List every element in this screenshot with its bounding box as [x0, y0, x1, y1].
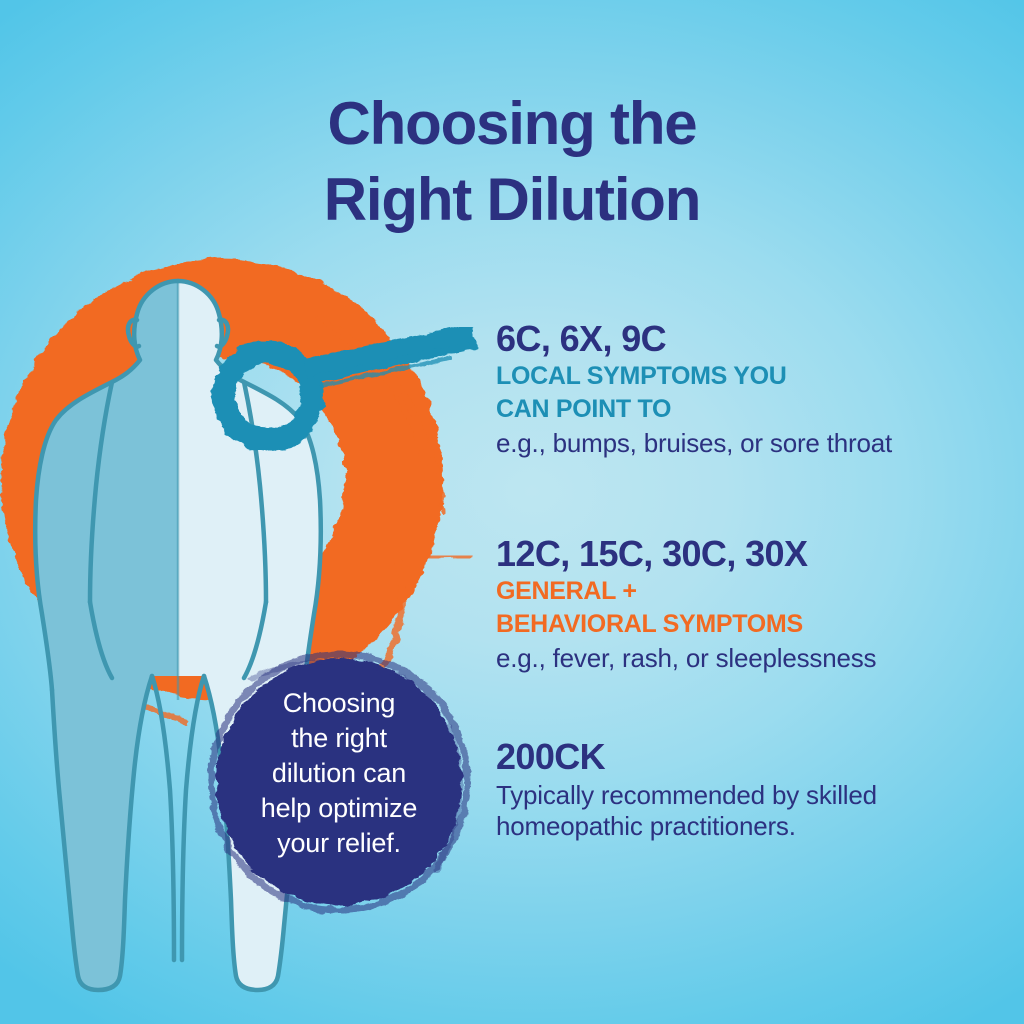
badge-message: Choosing the right dilution can help opt…: [228, 686, 450, 861]
dilution-code-1: 6C, 6X, 9C: [496, 318, 996, 359]
orange-brush-pointer: [372, 556, 478, 566]
badge-line-2: the right: [228, 721, 450, 756]
badge-line-5: your relief.: [228, 826, 450, 861]
infographic-poster: Choosing the Right Dilution 6C, 6X, 9C L…: [0, 0, 1024, 1024]
dilution-example-3-line-1: Typically recommended by skilled: [496, 780, 996, 811]
badge-line-1: Choosing: [228, 686, 450, 721]
dilution-item-2: 12C, 15C, 30C, 30X GENERAL + BEHAVIORAL …: [496, 533, 996, 674]
dilution-code-2: 12C, 15C, 30C, 30X: [496, 533, 996, 574]
dilution-example-2: e.g., fever, rash, or sleeplessness: [496, 643, 996, 674]
dilution-subhead-2-line-2: BEHAVIORAL SYMPTOMS: [496, 610, 996, 639]
dilution-subhead-1-line-2: CAN POINT TO: [496, 395, 996, 424]
dilution-example-3-line-2: homeopathic practitioners.: [496, 811, 996, 842]
title-line-1: Choosing the: [0, 86, 1024, 162]
dilution-example-1: e.g., bumps, bruises, or sore throat: [496, 428, 996, 459]
dilution-item-1: 6C, 6X, 9C LOCAL SYMPTOMS YOU CAN POINT …: [496, 318, 996, 459]
dilution-subhead-1-line-1: LOCAL SYMPTOMS YOU: [496, 362, 996, 391]
badge-line-3: dilution can: [228, 756, 450, 791]
dilution-code-3: 200CK: [496, 736, 996, 777]
title-line-2: Right Dilution: [0, 162, 1024, 238]
dilution-subhead-2-line-1: GENERAL +: [496, 577, 996, 606]
dilution-list: 6C, 6X, 9C LOCAL SYMPTOMS YOU CAN POINT …: [496, 318, 996, 842]
page-title: Choosing the Right Dilution: [0, 86, 1024, 238]
dilution-item-3: 200CK Typically recommended by skilled h…: [496, 736, 996, 842]
badge-line-4: help optimize: [228, 791, 450, 826]
